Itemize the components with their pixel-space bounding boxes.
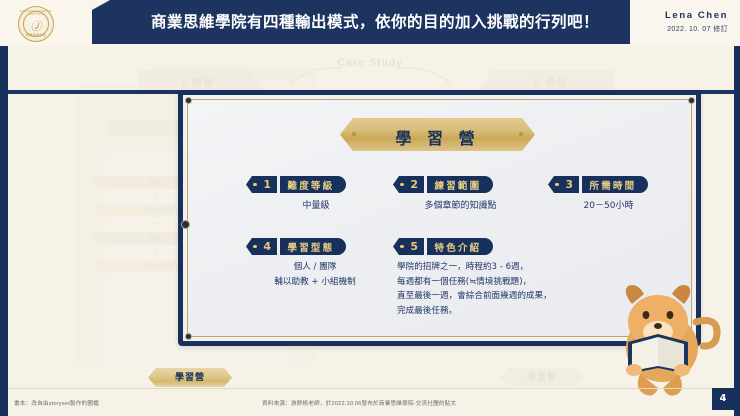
slide-root: BUSINESS THINKING INSTITUTE Ⓙ 商業思維學院 商業思… (0, 0, 740, 416)
tab-b[interactable]: B 學院 (478, 70, 613, 92)
credit-left: 畫本：改自由storyset製作的圖檔 (14, 399, 99, 407)
footer-tab-inactive[interactable]: 學習營 (500, 368, 584, 387)
seal-ring-top-text: BUSINESS THINKING INSTITUTE (19, 10, 53, 16)
item-2-number-label: 2 (410, 178, 418, 191)
item-1-number: 1 (246, 176, 277, 193)
item-4-caption-label: 學習型態 (288, 240, 335, 254)
item-2-caption-label: 練習範圍 (435, 178, 482, 192)
seal-ring-bottom-text: 商業思維學院 (19, 33, 53, 37)
item-3-caption-label: 所需時間 (590, 178, 637, 192)
ghost-caret-1-icon: ▼ (153, 193, 161, 199)
item-5-badge: 5 特色介紹 (393, 238, 493, 255)
item-4-number: 4 (246, 238, 277, 255)
rivet-mid-left-icon (181, 220, 190, 229)
item-4-number-label: 4 (263, 240, 271, 253)
item-1-caption: 難度等級 (280, 176, 347, 193)
tab-a-label: A 課程 (132, 74, 263, 89)
right-edge-bar (734, 0, 740, 416)
tab-a[interactable]: A 課程 (138, 70, 263, 92)
ghost-caret-2-icon: ▼ (153, 221, 161, 227)
revision-date: 2022. 10. 07 修訂 (665, 24, 728, 34)
left-edge-bar (0, 0, 8, 416)
author-name: Lena Chen (665, 10, 728, 21)
item-4-detail: 個人 / 團隊 輔以助教 + 小組機制 (230, 260, 400, 289)
item-2-badge: 2 練習範圍 (393, 176, 493, 193)
item-3-badge: 3 所需時間 (548, 176, 648, 193)
item-5-caption-label: 特色介紹 (435, 240, 482, 254)
item-5-number-label: 5 (410, 240, 418, 253)
item-2-caption: 練習範圍 (427, 176, 494, 193)
ghost-caret-3-icon: ▼ (153, 249, 161, 255)
page-title: 商業思維學院有四種輸出模式，依你的目的加入挑戰的行列吧！ (110, 9, 640, 35)
item-2-detail: 多個章節的知識點 (388, 198, 533, 214)
item-3-number: 3 (548, 176, 579, 193)
item-1-caption-label: 難度等級 (288, 178, 335, 192)
footer-tab-inactive-label: 學習營 (500, 368, 584, 387)
item-5-caption: 特色介紹 (427, 238, 494, 255)
item-1-badge: 1 難度等級 (246, 176, 346, 193)
case-study-label: Case Study (300, 58, 440, 69)
item-5-number: 5 (393, 238, 424, 255)
slide-header: BUSINESS THINKING INSTITUTE Ⓙ 商業思維學院 商業思… (0, 0, 740, 46)
rivet-top-left-icon (185, 97, 192, 104)
credit-center: 資料來源：游舒帆老師，於2022.10.06發布於商業思維學院-交流社團的貼文 (262, 399, 456, 407)
item-1-detail: 中量級 (256, 198, 376, 214)
item-3-detail: 20－50小時 (546, 198, 671, 214)
author-block: Lena Chen 2022. 10. 07 修訂 (665, 10, 728, 34)
tab-b-label: B 學院 (488, 74, 613, 89)
item-3-caption: 所需時間 (582, 176, 649, 193)
item-2-number: 2 (393, 176, 424, 193)
slide-footer: 學習營 學習營 畫本：改自由storyset製作的圖檔 資料來源：游舒帆老師，於… (0, 374, 740, 416)
item-4-caption: 學習型態 (280, 238, 347, 255)
seal-monogram: Ⓙ (19, 18, 53, 34)
item-4-badge: 4 學習型態 (246, 238, 346, 255)
institute-seal-logo: BUSINESS THINKING INSTITUTE Ⓙ 商業思維學院 (18, 6, 54, 42)
item-3-number-label: 3 (565, 178, 573, 191)
page-number: 4 (712, 388, 734, 410)
card-title-plate: 學 習 營 (340, 118, 535, 151)
item-1-number-label: 1 (263, 178, 271, 191)
card-title: 學 習 營 (340, 125, 535, 149)
footer-tab-active[interactable]: 學習營 (148, 368, 232, 387)
rivet-top-right-icon (688, 97, 695, 104)
footer-tab-active-label: 學習營 (148, 368, 232, 387)
rivet-bottom-left-icon (185, 333, 192, 340)
footer-divider (8, 388, 734, 389)
